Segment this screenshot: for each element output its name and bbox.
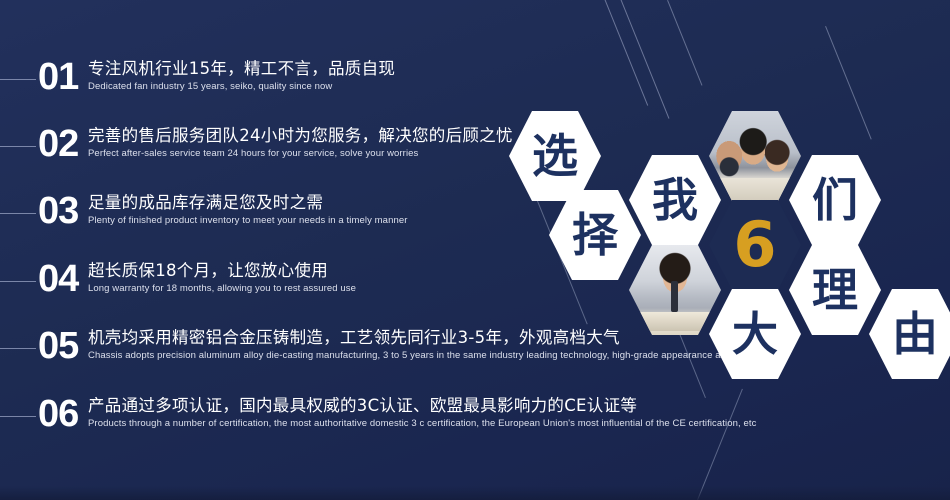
- hex-glyph: 择: [572, 212, 618, 258]
- hex-glyph: 大: [732, 311, 778, 357]
- hex-tile-men: 们: [789, 155, 881, 245]
- hex-glyph: 选: [532, 133, 578, 179]
- hex-tile-xuan: 选: [509, 111, 601, 201]
- hex-tile-wo: 我: [629, 155, 721, 245]
- hex-glyph: 理: [812, 267, 858, 313]
- hex-tile-da: 大: [709, 289, 801, 379]
- hex-tile-li: 理: [789, 245, 881, 335]
- hex-tile-ze: 择: [549, 190, 641, 280]
- businessman-with-laptop-photo: [629, 245, 721, 335]
- bottom-shadow-band: [0, 486, 950, 500]
- hex-big-number: 6: [733, 214, 776, 276]
- business-team-meeting-photo: [709, 111, 801, 201]
- hexagon-headline-cluster: 选 择 我 6 大 们 理 由: [0, 0, 950, 500]
- hex-glyph: 由: [892, 311, 938, 357]
- hex-tile-you: 由: [869, 289, 950, 379]
- hex-tile-big-number: 6: [709, 200, 801, 290]
- hex-glyph: 们: [812, 177, 858, 223]
- hex-glyph: 我: [652, 177, 698, 223]
- promo-banner: 01 专注风机行业15年，精工不言，品质自现 Dedicated fan ind…: [0, 0, 950, 500]
